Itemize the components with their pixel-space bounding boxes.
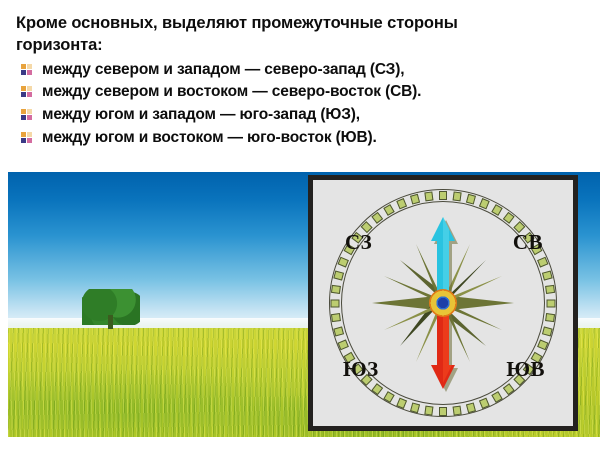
list-item-label: между югом и востоком — юго-восток (ЮВ). — [42, 127, 586, 150]
compass-tick — [542, 270, 553, 280]
tree-icon — [82, 289, 140, 331]
compass-tick — [453, 191, 462, 201]
compass-tick — [331, 284, 341, 293]
list-item-label: между севером и западом — северо-запад (… — [42, 59, 586, 82]
compass-tick — [410, 193, 420, 204]
compass-tick — [333, 326, 344, 336]
tree-trunk — [108, 315, 113, 329]
pinwheel-bullet-icon — [21, 86, 32, 97]
compass-tick — [503, 383, 515, 395]
compass-tick — [333, 270, 344, 280]
compass-tick — [542, 326, 553, 336]
compass-tick — [396, 397, 407, 408]
list-item-label: между севером и востоком — северо-восток… — [42, 81, 586, 104]
intro-paragraph: Кроме основных, выделяют промежуточные с… — [16, 12, 586, 57]
compass-tick — [439, 191, 447, 200]
compass-tick — [491, 391, 502, 403]
compass-tick — [545, 284, 555, 293]
compass-tick — [424, 191, 433, 201]
list-item: между севером и востоком — северо-восток… — [16, 81, 586, 104]
compass-tick — [547, 299, 556, 307]
compass-tick — [479, 397, 490, 408]
compass-tick — [466, 402, 476, 413]
compass-tick — [466, 193, 476, 204]
compass-tick — [453, 405, 462, 415]
compass-tick — [410, 402, 420, 413]
list-item: между югом и западом — юго-запад (ЮЗ), — [16, 104, 586, 127]
compass-panel: СЗ СВ ЮЗ ЮВ — [308, 175, 578, 431]
compass-tick — [545, 313, 555, 322]
compass-tick — [439, 407, 447, 416]
intro-line-1: Кроме основных, выделяют промежуточные с… — [16, 14, 458, 32]
list-item: между югом и востоком — юго-восток (ЮВ). — [16, 127, 586, 150]
pinwheel-bullet-icon — [21, 64, 32, 75]
directions-list: между севером и западом — северо-запад (… — [16, 59, 586, 151]
compass-tick — [331, 299, 340, 307]
pinwheel-bullet-icon — [21, 109, 32, 120]
compass-tick — [537, 339, 548, 350]
intro-line-2: горизонта: — [16, 34, 586, 56]
compass-tick — [537, 256, 548, 267]
compass-tick — [331, 313, 341, 322]
list-item-label: между югом и западом — юго-запад (ЮЗ), — [42, 104, 586, 127]
compass-tick — [479, 198, 490, 209]
pinwheel-bullet-icon — [21, 132, 32, 143]
compass-hub — [429, 289, 457, 317]
compass-tick — [424, 405, 433, 415]
list-item: между севером и западом — северо-запад (… — [16, 59, 586, 82]
slide-text-block: Кроме основных, выделяют промежуточные с… — [0, 0, 600, 172]
